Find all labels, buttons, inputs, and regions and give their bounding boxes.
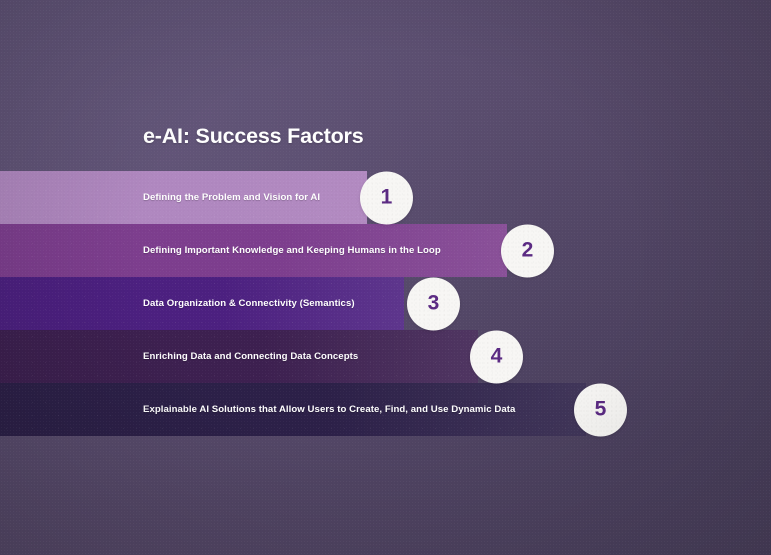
factor-label-5: Explainable AI Solutions that Allow User… [143, 404, 515, 415]
factor-number-badge-2: 2 [501, 224, 554, 277]
list-item[interactable]: Data Organization & Connectivity (Semant… [0, 277, 771, 330]
factor-number-badge-3: 3 [407, 277, 460, 330]
factor-number-badge-1: 1 [360, 171, 413, 224]
factor-label-3: Data Organization & Connectivity (Semant… [143, 298, 355, 309]
list-item[interactable]: Defining Important Knowledge and Keeping… [0, 224, 771, 277]
list-item[interactable]: Defining the Problem and Vision for AI 1 [0, 171, 771, 224]
slide-canvas: e-AI: Success Factors Defining the Probl… [0, 0, 771, 555]
factor-number-5: 5 [595, 398, 607, 422]
page-title: e-AI: Success Factors [143, 124, 363, 149]
factor-number-1: 1 [381, 186, 393, 210]
factor-label-2: Defining Important Knowledge and Keeping… [143, 245, 441, 256]
factor-bar-5[interactable]: Explainable AI Solutions that Allow User… [0, 383, 586, 436]
factor-number-4: 4 [491, 345, 503, 369]
factor-number-badge-5: 5 [574, 383, 627, 436]
factor-bar-2[interactable]: Defining Important Knowledge and Keeping… [0, 224, 507, 277]
factor-number-badge-4: 4 [470, 330, 523, 383]
factor-number-3: 3 [428, 292, 440, 316]
factor-bar-3[interactable]: Data Organization & Connectivity (Semant… [0, 277, 404, 330]
factor-label-1: Defining the Problem and Vision for AI [143, 192, 320, 203]
list-item[interactable]: Explainable AI Solutions that Allow User… [0, 383, 771, 436]
factor-bar-1[interactable]: Defining the Problem and Vision for AI [0, 171, 367, 224]
factor-bar-4[interactable]: Enriching Data and Connecting Data Conce… [0, 330, 478, 383]
factor-label-4: Enriching Data and Connecting Data Conce… [143, 351, 358, 362]
factor-number-2: 2 [522, 239, 534, 263]
list-item[interactable]: Enriching Data and Connecting Data Conce… [0, 330, 771, 383]
success-factors-list: Defining the Problem and Vision for AI 1… [0, 171, 771, 436]
